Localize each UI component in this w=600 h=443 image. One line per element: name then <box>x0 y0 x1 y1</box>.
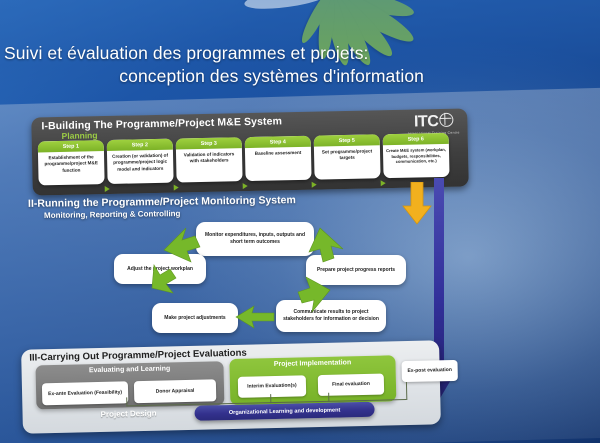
eval-item-donor-appraisal[interactable]: Donor Appraisal <box>134 379 216 403</box>
connector-line-vertical <box>270 394 271 403</box>
step-connector-arrow-icon <box>243 183 248 189</box>
step-card-5[interactable]: Step 5 Set programme/project targets <box>314 134 381 179</box>
cycle-box-text: Adjust the project workplan <box>127 266 193 273</box>
cycle-box-adjustments[interactable]: Make project adjustments <box>152 303 238 333</box>
section-carrying-out-evaluations: III-Carrying Out Programme/Project Evalu… <box>21 340 441 433</box>
panel-evaluating-and-learning: Evaluating and Learning Ex-ante Evaluati… <box>35 361 224 409</box>
panel-title: Evaluating and Learning <box>35 361 223 377</box>
page-title: Suivi et évaluation des programmes et pr… <box>0 42 430 88</box>
connector-line-vertical <box>328 393 329 402</box>
cycle-box-reports[interactable]: Prepare project progress reports <box>306 255 406 285</box>
step-connector-arrow-icon <box>381 180 386 186</box>
page-title-line1: Suivi et évaluation des programmes et pr… <box>0 42 430 65</box>
step-card-4[interactable]: Step 4 Baseline assessment <box>245 136 312 181</box>
project-design-label: Project Design <box>100 409 156 419</box>
organizational-learning-text: Organizational Learning and development <box>229 407 341 416</box>
eval-item-text: Ex-ante Evaluation (Feasibility) <box>48 389 122 397</box>
section2-heading: II-Running the Programme/Project Monitor… <box>28 194 296 210</box>
step-connector-arrow-icon <box>312 182 317 188</box>
cycle-box-communicate[interactable]: Communicate results to project stakehold… <box>276 300 386 332</box>
step-connector-arrow-icon <box>105 186 110 192</box>
step-card-1[interactable]: Step 1 Establishment of the programme/pr… <box>38 140 105 185</box>
eval-item-text: Interim Evaluation(s) <box>247 383 297 391</box>
connector-line-vertical <box>126 397 127 406</box>
eval-item-ex-post[interactable]: Ex-post evaluation <box>401 360 457 382</box>
steps-row: Step 1 Establishment of the programme/pr… <box>38 133 450 185</box>
cycle-box-monitor[interactable]: Monitor expenditures, inputs, outputs an… <box>196 222 314 256</box>
organizational-learning-bar: Organizational Learning and development <box>194 402 374 421</box>
itc-logo-text: ITC <box>414 113 439 131</box>
globe-icon <box>439 113 453 127</box>
cycle-box-text: Monitor expenditures, inputs, outputs an… <box>201 232 309 245</box>
cycle-box-text: Communicate results to project stakehold… <box>281 309 381 322</box>
step-connector-arrow-icon <box>174 185 179 191</box>
step-text: Set programme/project targets <box>314 145 381 179</box>
cycle-box-workplan[interactable]: Adjust the project workplan <box>114 254 206 284</box>
cycle-box-text: Prepare project progress reports <box>317 267 395 274</box>
panel-project-implementation: Project Implementation Interim Evaluatio… <box>229 355 396 405</box>
eval-item-interim[interactable]: Interim Evaluation(s) <box>238 375 306 398</box>
step-text: Validation of indicators with stakeholde… <box>176 148 243 182</box>
panel-title: Project Implementation <box>229 355 395 371</box>
step-card-6[interactable]: Step 6 Create M&E system (workplan, budg… <box>383 133 450 178</box>
eval-item-text: Ex-post evaluation <box>407 367 452 374</box>
step-card-3[interactable]: Step 3 Validation of indicators with sta… <box>176 137 243 182</box>
page-title-line2: conception des systèmes d'information <box>0 65 430 88</box>
step-text: Create M&E system (workplan, budgets, re… <box>383 144 450 178</box>
eval-item-text: Final evaluation <box>332 381 370 388</box>
cycle-box-text: Make project adjustments <box>164 315 225 322</box>
step-text: Establishment of the programme/project M… <box>38 151 105 185</box>
eval-item-ex-ante[interactable]: Ex-ante Evaluation (Feasibility) <box>42 381 128 405</box>
slide-canvas: Suivi et évaluation des programmes et pr… <box>0 0 600 443</box>
step-text: Baseline assessment <box>245 147 312 181</box>
eval-item-text: Donor Appraisal <box>156 388 195 395</box>
section2-subheading: Monitoring, Reporting & Controlling <box>44 209 181 220</box>
step-card-2[interactable]: Step 2 Creation (or validation) of progr… <box>107 139 174 184</box>
connector-line-vertical <box>406 382 407 400</box>
step-text: Creation (or validation) of programme/pr… <box>107 149 174 183</box>
